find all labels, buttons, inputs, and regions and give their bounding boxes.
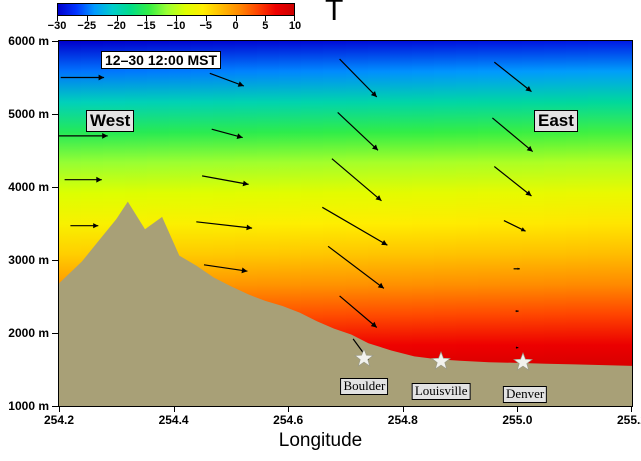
wind-arrow [492,118,532,152]
city-star-icon [354,348,374,368]
x-tick-label: 255.0 [502,413,532,427]
wind-arrow [202,176,249,186]
city-label: Boulder [340,378,388,395]
y-tick-label: 6000 m [8,34,49,48]
city-label: Denver [503,386,547,403]
timestamp-label: 12–30 12:00 MST [101,51,221,69]
colorbar-tick-label: −10 [167,20,186,32]
x-tick [59,406,60,412]
colorbar-tick-label: −15 [137,20,156,32]
city-label: Louisville [412,383,471,400]
x-tick-label: 255.2 [617,413,641,427]
x-axis-title: Longitude [0,430,641,452]
colorbar-tick-labels: −30−25−20−15−10−50510 [57,20,295,34]
plot-area: BoulderLouisvilleDenver 12–30 12:00 MST … [58,40,633,407]
wind-arrow [328,246,384,288]
colorbar-gradient [57,3,295,16]
wind-arrow [196,222,252,231]
colorbar: −30−25−20−15−10−50510 [57,3,295,16]
colorbar-tick-label: 0 [232,20,238,32]
y-tick-label: 4000 m [8,180,49,194]
colorbar-tick-label: −25 [77,20,96,32]
west-label: West [86,110,134,132]
city-star-icon [431,351,451,371]
chart-title: T [325,0,343,26]
colorbar-tick-label: −30 [48,20,67,32]
wind-arrow [204,265,247,273]
x-tick [288,406,289,412]
x-tick-label: 254.4 [159,413,189,427]
y-tick-label: 1000 m [8,399,49,413]
wind-vector-layer [59,41,632,406]
east-label: East [534,110,578,132]
wind-arrow [504,221,526,232]
x-tick [517,406,518,412]
wind-arrow [332,159,382,201]
x-tick-label: 254.8 [388,413,418,427]
y-tick-label: 3000 m [8,253,49,267]
colorbar-tick-label: 10 [289,20,301,32]
wind-arrow [70,223,98,228]
x-tick-label: 254.6 [273,413,303,427]
wind-arrow [514,268,520,270]
x-tick [403,406,404,412]
wind-arrow [340,59,377,97]
x-tick [631,406,632,412]
y-axis: 1000 m2000 m3000 m4000 m5000 m6000 m [0,40,58,407]
wind-arrow [59,133,108,139]
colorbar-tick-label: −20 [107,20,126,32]
wind-arrow [322,207,387,245]
wind-arrow [494,167,531,197]
x-tick [174,406,175,412]
wind-arrow [212,129,243,139]
wind-arrow [340,296,377,328]
y-tick-label: 2000 m [8,326,49,340]
wind-arrow [65,177,102,183]
wind-arrow [516,310,519,312]
figure-root: −30−25−20−15−10−50510 T 1000 m2000 m3000… [0,0,641,461]
wind-arrow [516,347,518,349]
wind-arrow [210,73,244,86]
x-tick-label: 254.2 [44,413,74,427]
wind-arrow [61,75,104,81]
colorbar-tick-label: −5 [199,20,212,32]
colorbar-tick-label: 5 [262,20,268,32]
city-star-icon [513,352,533,372]
wind-arrow [494,62,531,92]
y-tick-label: 5000 m [8,107,49,121]
wind-arrow [338,112,378,150]
